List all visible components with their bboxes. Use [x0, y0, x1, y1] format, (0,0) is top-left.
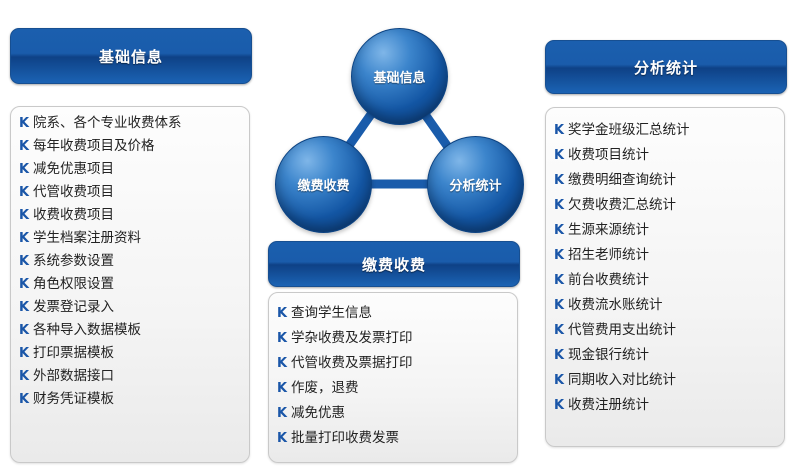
diagram-node-label: 缴费收费 [297, 175, 349, 194]
list-item[interactable]: K 减免优惠项目 [19, 161, 243, 178]
list-item-label: 每年收费项目及价格 [33, 138, 243, 155]
bullet-k-icon: K [19, 207, 33, 224]
bullet-k-icon: K [19, 368, 33, 385]
bullet-k-icon: K [19, 276, 33, 293]
list-item[interactable]: K 系统参数设置 [19, 253, 243, 270]
list-item[interactable]: K 外部数据接口 [19, 368, 243, 385]
bullet-k-icon: K [554, 397, 568, 414]
panel-list-statistics: K 奖学金班级汇总统计 K 收费项目统计 K 缴费明细查询统计 K 欠费收费汇总… [545, 107, 785, 447]
bullet-k-icon: K [554, 247, 568, 264]
list-item[interactable]: K 角色权限设置 [19, 276, 243, 293]
bullet-k-icon: K [19, 391, 33, 408]
list-item-label: 各种导入数据模板 [33, 322, 243, 339]
list-item[interactable]: K 打印票据模板 [19, 345, 243, 362]
list-item-label: 财务凭证模板 [33, 391, 243, 408]
bullet-k-icon: K [19, 345, 33, 362]
list-item-label: 代管收费项目 [33, 184, 243, 201]
list-item[interactable]: K 招生老师统计 [554, 247, 778, 264]
list-item[interactable]: K 作废，退费 [277, 380, 511, 397]
list-item-label: 招生老师统计 [568, 247, 778, 264]
bullet-k-icon: K [554, 222, 568, 239]
list-item[interactable]: K 缴费明细查询统计 [554, 172, 778, 189]
bullet-k-icon: K [554, 122, 568, 139]
list-item-label: 生源来源统计 [568, 222, 778, 239]
list-item-label: 减免优惠项目 [33, 161, 243, 178]
list-item[interactable]: K 每年收费项目及价格 [19, 138, 243, 155]
bullet-k-icon: K [554, 372, 568, 389]
list-item-label: 院系、各个专业收费体系 [33, 115, 243, 132]
list-item-label: 减免优惠 [291, 405, 511, 422]
list-item-label: 打印票据模板 [33, 345, 243, 362]
diagram-node-label: 分析统计 [449, 175, 501, 194]
list-item-label: 学生档案注册资料 [33, 230, 243, 247]
list-item[interactable]: K 批量打印收费发票 [277, 430, 511, 447]
list-item-label: 收费注册统计 [568, 397, 778, 414]
list-item[interactable]: K 奖学金班级汇总统计 [554, 122, 778, 139]
list-item-label: 缴费明细查询统计 [568, 172, 778, 189]
list-item-label: 收费流水账统计 [568, 297, 778, 314]
bullet-k-icon: K [554, 172, 568, 189]
list-item[interactable]: K 前台收费统计 [554, 272, 778, 289]
list-item-label: 前台收费统计 [568, 272, 778, 289]
list-item[interactable]: K 现金银行统计 [554, 347, 778, 364]
list-item[interactable]: K 财务凭证模板 [19, 391, 243, 408]
bullet-k-icon: K [277, 430, 291, 447]
list-item[interactable]: K 学生档案注册资料 [19, 230, 243, 247]
list-item[interactable]: K 查询学生信息 [277, 305, 511, 322]
list-item[interactable]: K 欠费收费汇总统计 [554, 197, 778, 214]
triangle-diagram: 基础信息 缴费收费 分析统计 [255, 10, 545, 230]
bullet-k-icon: K [19, 253, 33, 270]
panel-header-statistics[interactable]: 分析统计 [545, 40, 787, 94]
bullet-k-icon: K [554, 297, 568, 314]
list-item-label: 系统参数设置 [33, 253, 243, 270]
list-item-label: 发票登记录入 [33, 299, 243, 316]
list-item[interactable]: K 代管收费项目 [19, 184, 243, 201]
bullet-k-icon: K [277, 380, 291, 397]
diagram-node-basic-info[interactable]: 基础信息 [351, 28, 448, 125]
panel-list-basic-info: K 院系、各个专业收费体系 K 每年收费项目及价格 K 减免优惠项目 K 代管收… [10, 106, 250, 463]
list-item-label: 批量打印收费发票 [291, 430, 511, 447]
list-item[interactable]: K 各种导入数据模板 [19, 322, 243, 339]
panel-header-payment[interactable]: 缴费收费 [268, 241, 520, 287]
diagram-node-label: 基础信息 [373, 67, 425, 86]
bullet-k-icon: K [277, 405, 291, 422]
bullet-k-icon: K [554, 347, 568, 364]
panel-list-payment: K 查询学生信息 K 学杂收费及发票打印 K 代管收费及票据打印 K 作废，退费… [268, 292, 518, 463]
list-item-label: 代管费用支出统计 [568, 322, 778, 339]
diagram-node-payment[interactable]: 缴费收费 [275, 136, 372, 233]
list-item-label: 代管收费及票据打印 [291, 355, 511, 372]
list-item-label: 现金银行统计 [568, 347, 778, 364]
panel-header-label: 缴费收费 [362, 254, 426, 275]
diagram-node-statistics[interactable]: 分析统计 [427, 136, 524, 233]
list-item[interactable]: K 减免优惠 [277, 405, 511, 422]
panel-header-label: 基础信息 [99, 46, 163, 67]
list-item[interactable]: K 生源来源统计 [554, 222, 778, 239]
list-item[interactable]: K 代管收费及票据打印 [277, 355, 511, 372]
list-item-label: 学杂收费及发票打印 [291, 330, 511, 347]
diagram-canvas: 基础信息 K 院系、各个专业收费体系 K 每年收费项目及价格 K 减免优惠项目 … [0, 0, 800, 470]
bullet-k-icon: K [554, 197, 568, 214]
bullet-k-icon: K [277, 305, 291, 322]
bullet-k-icon: K [19, 299, 33, 316]
list-item[interactable]: K 学杂收费及发票打印 [277, 330, 511, 347]
bullet-k-icon: K [19, 322, 33, 339]
list-item-label: 奖学金班级汇总统计 [568, 122, 778, 139]
list-item[interactable]: K 收费注册统计 [554, 397, 778, 414]
panel-header-basic-info[interactable]: 基础信息 [10, 28, 252, 84]
list-item-label: 作废，退费 [291, 380, 511, 397]
bullet-k-icon: K [277, 355, 291, 372]
list-item[interactable]: K 收费流水账统计 [554, 297, 778, 314]
bullet-k-icon: K [19, 230, 33, 247]
list-item-label: 角色权限设置 [33, 276, 243, 293]
list-item-label: 收费项目统计 [568, 147, 778, 164]
list-item-label: 同期收入对比统计 [568, 372, 778, 389]
list-item[interactable]: K 收费项目统计 [554, 147, 778, 164]
panel-header-label: 分析统计 [634, 57, 698, 78]
list-item[interactable]: K 发票登记录入 [19, 299, 243, 316]
list-item[interactable]: K 院系、各个专业收费体系 [19, 115, 243, 132]
list-item[interactable]: K 同期收入对比统计 [554, 372, 778, 389]
list-item[interactable]: K 代管费用支出统计 [554, 322, 778, 339]
list-item-label: 外部数据接口 [33, 368, 243, 385]
bullet-k-icon: K [277, 330, 291, 347]
bullet-k-icon: K [19, 138, 33, 155]
list-item-label: 收费收费项目 [33, 207, 243, 224]
bullet-k-icon: K [554, 322, 568, 339]
bullet-k-icon: K [19, 161, 33, 178]
list-item-label: 欠费收费汇总统计 [568, 197, 778, 214]
bullet-k-icon: K [19, 115, 33, 132]
bullet-k-icon: K [19, 184, 33, 201]
list-item[interactable]: K 收费收费项目 [19, 207, 243, 224]
bullet-k-icon: K [554, 147, 568, 164]
list-item-label: 查询学生信息 [291, 305, 511, 322]
bullet-k-icon: K [554, 272, 568, 289]
